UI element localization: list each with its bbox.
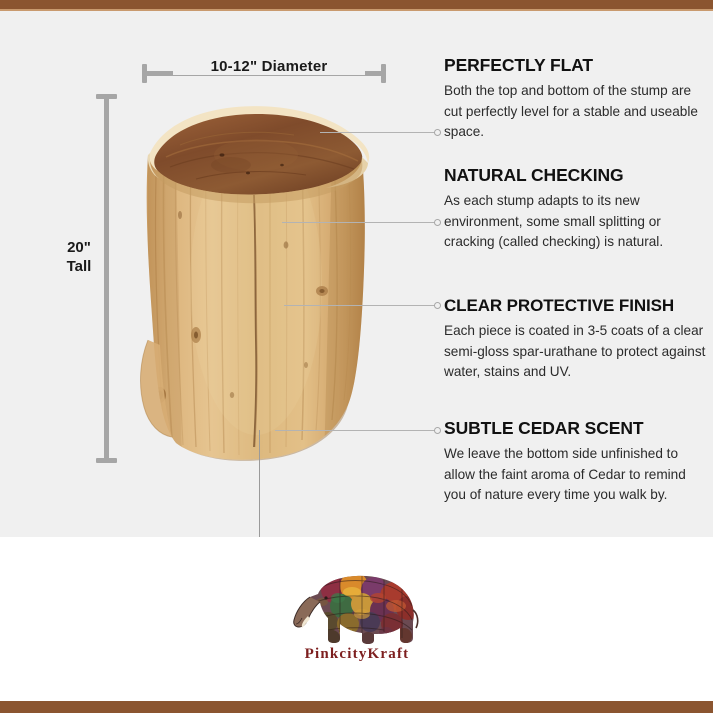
feature-natural-checking: NATURAL CHECKING As each stump adapts to…	[444, 165, 710, 253]
feature-subtle-cedar-scent: SUBTLE CEDAR SCENT We leave the bottom s…	[444, 418, 710, 506]
leader-line-bottom-vertical	[259, 430, 260, 538]
height-label-line1: 20"	[58, 238, 100, 257]
leader-line-1	[320, 132, 437, 133]
leader-line-2	[282, 222, 437, 223]
elephant-icon	[282, 572, 432, 648]
leader-dot-3	[434, 302, 441, 309]
diameter-dimension-cap-left	[142, 64, 147, 83]
feature-body: Both the top and bottom of the stump are…	[444, 81, 706, 143]
feature-title: NATURAL CHECKING	[444, 165, 710, 186]
height-label: 20" Tall	[58, 238, 100, 276]
feature-body: As each stump adapts to its new environm…	[444, 191, 710, 253]
leader-dot-2	[434, 219, 441, 226]
height-dimension-cap-bottom	[96, 458, 117, 463]
feature-title: CLEAR PROTECTIVE FINISH	[444, 295, 713, 316]
feature-title: PERFECTLY FLAT	[444, 55, 706, 76]
diameter-label: 10-12" Diameter	[173, 58, 365, 75]
cedar-stump-illustration	[136, 95, 386, 465]
brand-logo: PinkcityKraft	[276, 572, 438, 672]
height-dimension-cap-top	[96, 94, 117, 99]
diameter-dimension-cap-right	[381, 64, 386, 83]
bottom-brand-bar	[0, 701, 713, 713]
infographic-page: 10-12" Diameter 20" Tall PERFECTLY FLAT …	[0, 0, 713, 713]
brand-wordmark: PinkcityKraft	[276, 646, 438, 663]
feature-perfectly-flat: PERFECTLY FLAT Both the top and bottom o…	[444, 55, 706, 143]
feature-title: SUBTLE CEDAR SCENT	[444, 418, 710, 439]
feature-body: Each piece is coated in 3-5 coats of a c…	[444, 321, 713, 383]
leader-line-4	[275, 430, 437, 431]
height-dimension-line	[104, 95, 109, 462]
leader-dot-4	[434, 427, 441, 434]
leader-dot-1	[434, 129, 441, 136]
leader-line-3	[284, 305, 437, 306]
feature-clear-protective-finish: CLEAR PROTECTIVE FINISH Each piece is co…	[444, 295, 713, 383]
top-brand-bar	[0, 0, 713, 9]
height-label-line2: Tall	[58, 257, 100, 276]
feature-body: We leave the bottom side unfinished to a…	[444, 444, 710, 506]
